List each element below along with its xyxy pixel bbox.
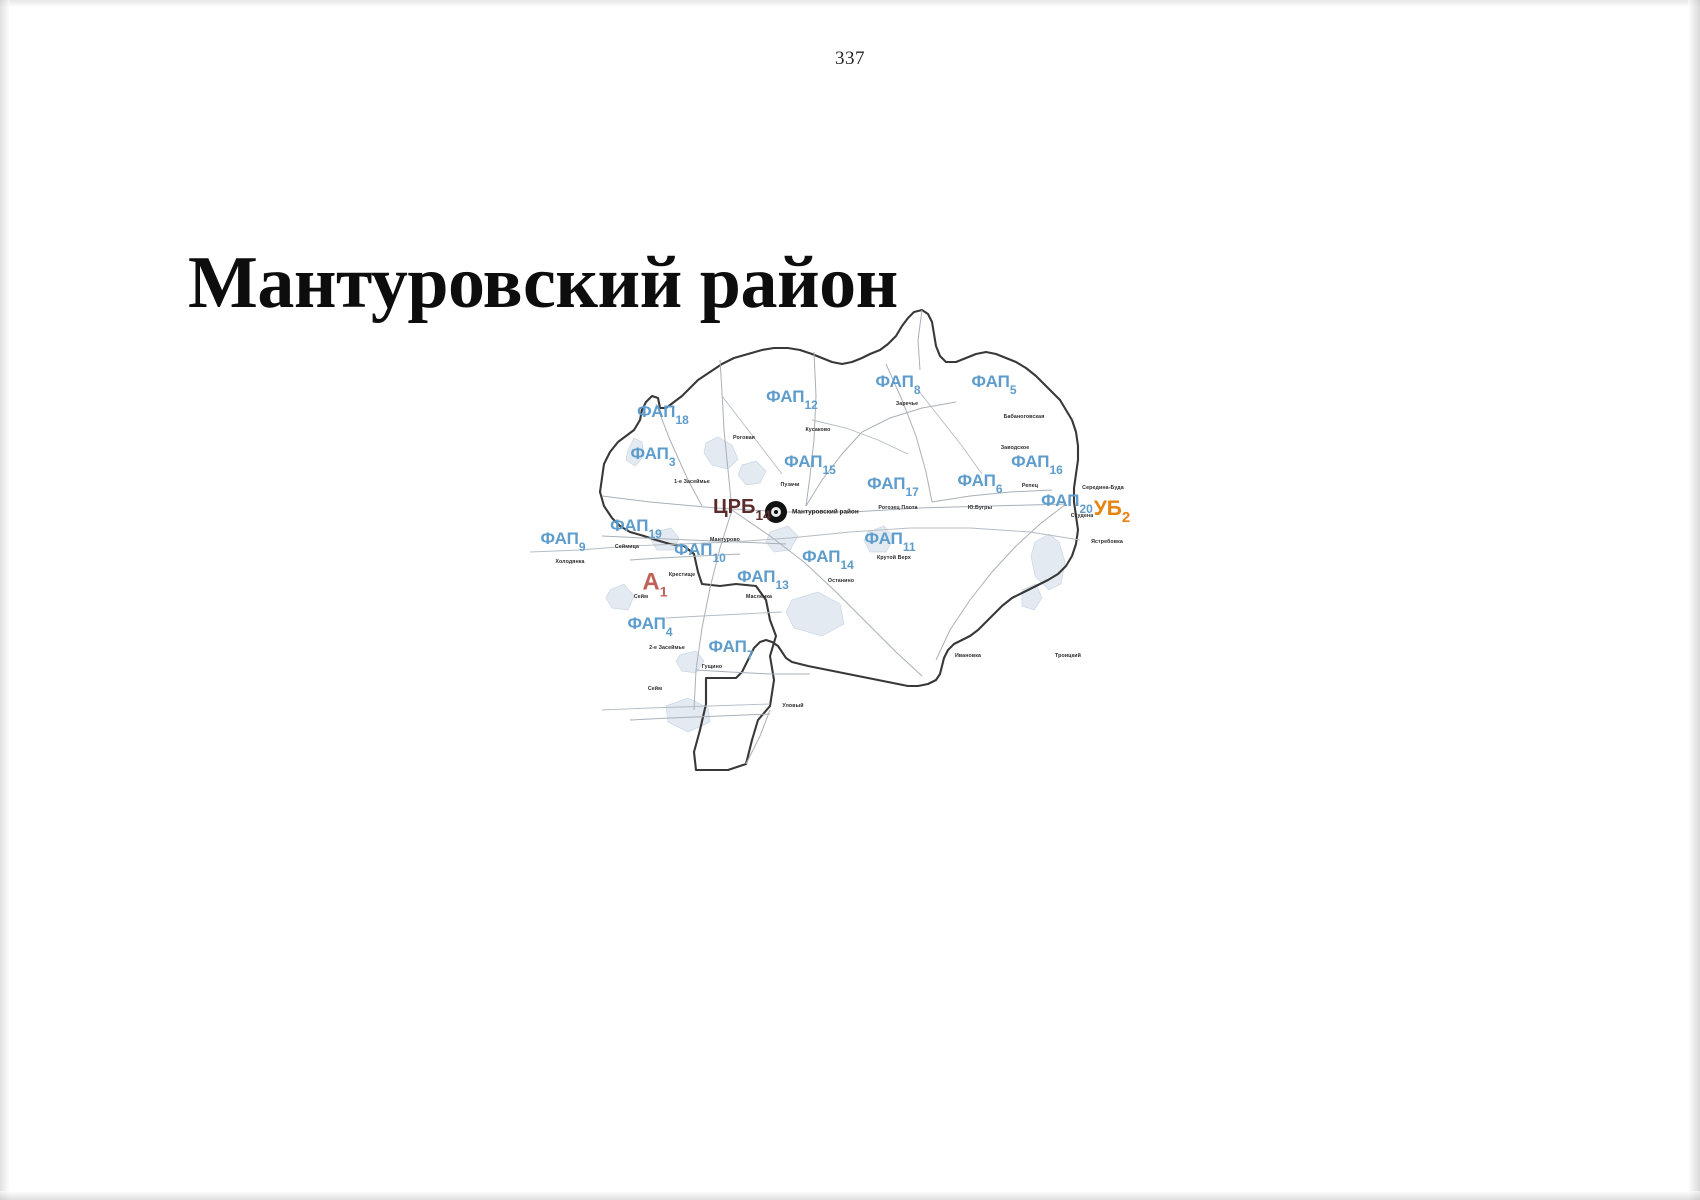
facility-label-ub-2[interactable]: УБ2 bbox=[1094, 498, 1131, 522]
facility-index: 14 bbox=[841, 558, 854, 572]
facility-code: ФАП bbox=[1041, 491, 1079, 510]
facility-code: ФАП bbox=[875, 372, 913, 391]
settlement-label: Масленка bbox=[746, 594, 772, 600]
scan-edge-left bbox=[0, 0, 10, 1200]
settlement-label: Пузачи bbox=[781, 482, 800, 488]
district-map: Мантуровский район РоговаяКусаковоЗаречь… bbox=[470, 300, 1110, 800]
facility-label-a-1[interactable]: А1 bbox=[642, 570, 667, 595]
facility-code: ФАП bbox=[766, 387, 804, 406]
facility-index: 18 bbox=[676, 413, 689, 427]
facility-label-fap-8[interactable]: ФАП8 bbox=[875, 373, 920, 393]
facility-code: ФАП bbox=[708, 637, 746, 656]
facility-code: ФАП bbox=[957, 471, 995, 490]
facility-code: А bbox=[642, 568, 659, 595]
facility-label-fap-18[interactable]: ФАП18 bbox=[637, 403, 689, 423]
facility-code: ЦРБ bbox=[713, 496, 755, 518]
settlement-label: Останино bbox=[828, 578, 854, 584]
settlement-label: Ястребовка bbox=[1091, 539, 1123, 545]
facility-label-fap-6[interactable]: ФАП6 bbox=[957, 472, 1002, 492]
facility-index: 17 bbox=[906, 485, 919, 499]
facility-label-fap-16[interactable]: ФАП16 bbox=[1011, 453, 1063, 473]
settlement-label: Крестище bbox=[669, 572, 695, 578]
facility-index: 12 bbox=[805, 398, 818, 412]
settlement-label: Сеймица bbox=[615, 544, 639, 550]
facility-index: 15 bbox=[823, 463, 836, 477]
facility-label-fap-3[interactable]: ФАП3 bbox=[630, 445, 675, 465]
scan-edge-top bbox=[0, 0, 1700, 7]
scan-edge-bottom bbox=[0, 1191, 1700, 1200]
facility-code: УБ bbox=[1094, 497, 1122, 520]
facility-index: 9 bbox=[579, 540, 586, 554]
facility-index: 8 bbox=[914, 383, 921, 397]
facility-index: 19 bbox=[649, 527, 662, 541]
facility-label-fap-12[interactable]: ФАП12 bbox=[766, 388, 818, 408]
facility-label-fap-7[interactable]: ФАП7 bbox=[708, 638, 753, 658]
facility-label-fap-5[interactable]: ФАП5 bbox=[971, 373, 1016, 393]
facility-index: 16 bbox=[1050, 463, 1063, 477]
facility-code: ФАП bbox=[784, 452, 822, 471]
facility-index: 6 bbox=[996, 482, 1003, 496]
settlement-label: Репец bbox=[1022, 483, 1038, 489]
facility-index: 7 bbox=[747, 648, 754, 662]
facility-code: ФАП bbox=[737, 567, 775, 586]
facility-code: ФАП bbox=[674, 540, 712, 559]
settlement-label: Рогозец Плота bbox=[878, 505, 917, 511]
facility-index: 5 bbox=[1010, 383, 1017, 397]
settlement-label: Уловый bbox=[782, 703, 803, 709]
facility-label-fap-9[interactable]: ФАП9 bbox=[540, 530, 585, 550]
facility-label-fap-19[interactable]: ФАП19 bbox=[610, 517, 662, 537]
facility-index: 2 bbox=[1122, 509, 1130, 526]
facility-label-fap-13[interactable]: ФАП13 bbox=[737, 568, 789, 588]
facility-index: 1 bbox=[660, 584, 668, 600]
facility-code: ФАП bbox=[627, 614, 665, 633]
settlement-label: Заводское bbox=[1001, 445, 1030, 451]
facility-label-fap-20[interactable]: ФАП20 bbox=[1041, 492, 1093, 512]
settlement-label: 1-е Засеймье bbox=[674, 479, 710, 485]
facility-index: 10 bbox=[713, 551, 726, 565]
facility-index: 4 bbox=[666, 625, 673, 639]
facility-label-crb-14[interactable]: ЦРБ14 bbox=[713, 497, 771, 519]
facility-label-fap-11[interactable]: ФАП11 bbox=[864, 530, 915, 550]
settlement-label: Холодянка bbox=[555, 559, 584, 565]
facility-code: ФАП bbox=[864, 529, 902, 548]
settlement-label: Ю.Бугры bbox=[968, 505, 992, 511]
district-centre-label: Мантуровский район bbox=[792, 509, 859, 516]
facility-index: 13 bbox=[776, 578, 789, 592]
scan-edge-right bbox=[1688, 0, 1700, 1200]
settlement-label: Бабаноговская bbox=[1004, 414, 1045, 420]
facility-code: ФАП bbox=[971, 372, 1009, 391]
facility-label-fap-17[interactable]: ФАП17 bbox=[867, 475, 919, 495]
facility-code: ФАП bbox=[610, 516, 648, 535]
settlement-label: Кусаково bbox=[805, 427, 830, 433]
settlement-label: Сейм bbox=[648, 686, 662, 692]
facility-label-fap-10[interactable]: ФАП10 bbox=[674, 541, 726, 561]
settlement-label: 2-е Засеймье bbox=[649, 645, 685, 651]
page-number: 337 bbox=[0, 48, 1700, 70]
settlement-label: Роговая bbox=[733, 435, 755, 441]
facility-code: ФАП bbox=[630, 444, 668, 463]
facility-label-fap-4[interactable]: ФАП4 bbox=[627, 615, 672, 635]
facility-index: 20 bbox=[1080, 502, 1093, 516]
facility-label-fap-15[interactable]: ФАП15 bbox=[784, 453, 836, 473]
settlement-label: Гущино bbox=[702, 664, 723, 670]
facility-code: ФАП bbox=[637, 402, 675, 421]
settlement-label: Середина-Буда bbox=[1082, 485, 1124, 491]
scanned-page: 337 Мантуровский район bbox=[0, 0, 1700, 1200]
facility-code: ФАП bbox=[867, 474, 905, 493]
settlement-label: Заречье bbox=[896, 401, 918, 407]
settlement-label: Крутой Верх bbox=[877, 555, 911, 561]
facility-index: 11 bbox=[903, 540, 916, 554]
facility-code: ФАП bbox=[540, 529, 578, 548]
centre-star-icon bbox=[771, 507, 781, 517]
facility-code: ФАП bbox=[1011, 452, 1049, 471]
facility-index: 3 bbox=[669, 455, 676, 469]
facility-code: ФАП bbox=[802, 547, 840, 566]
settlement-label: Троицкий bbox=[1055, 653, 1081, 659]
facility-label-fap-14[interactable]: ФАП14 bbox=[802, 548, 854, 568]
settlement-label: Ивановка bbox=[955, 653, 981, 659]
facility-index: 14 bbox=[755, 507, 771, 523]
